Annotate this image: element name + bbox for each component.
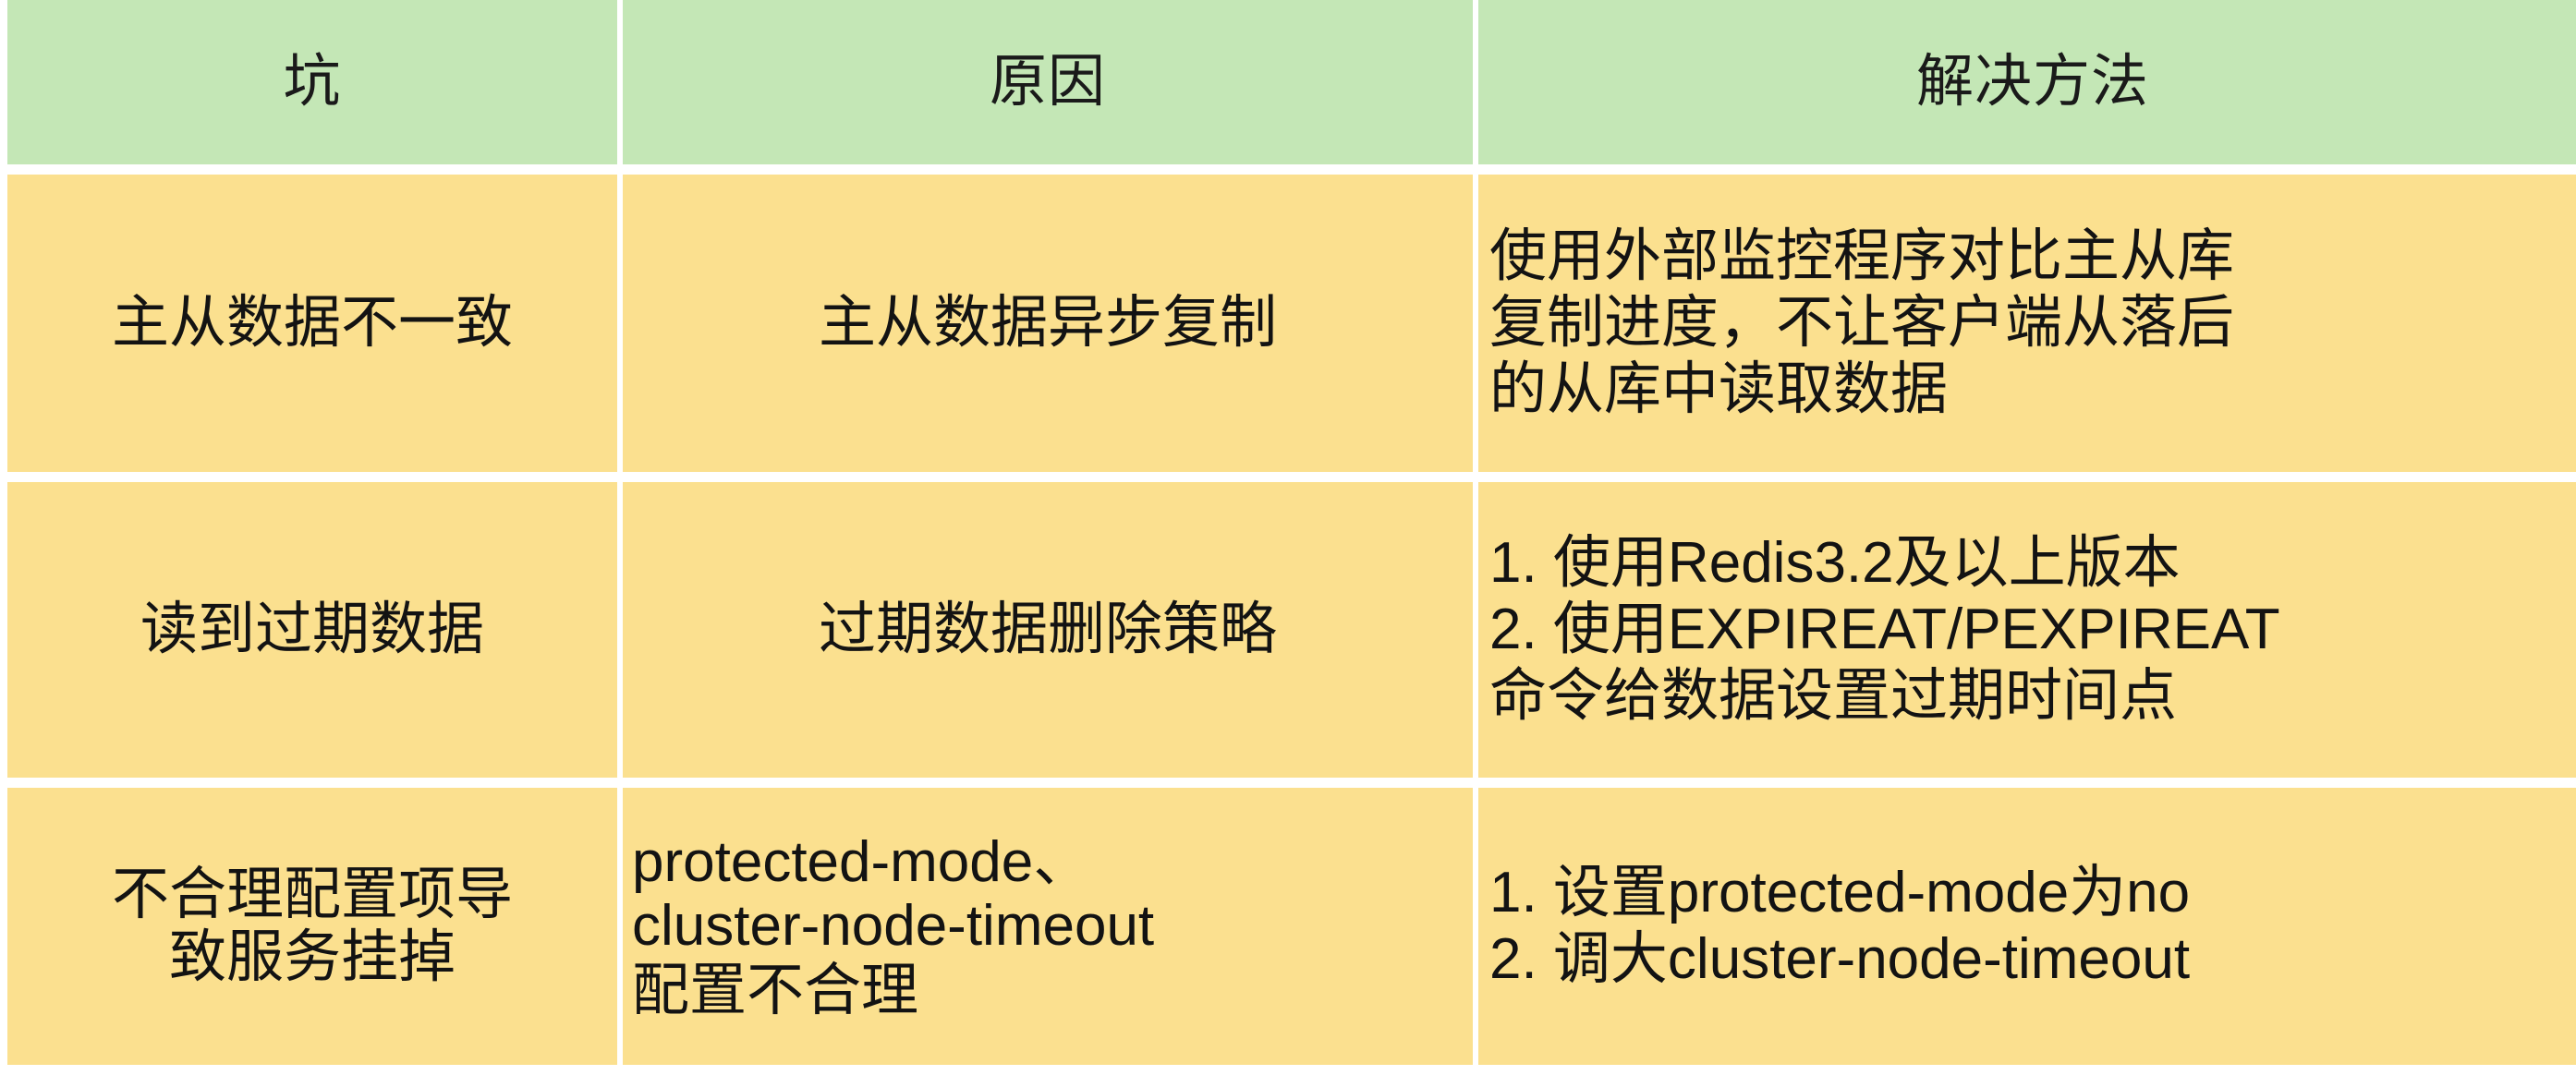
header-row: 坑 原因 解决方法 xyxy=(7,0,2576,164)
pitfall-text: 不合理配置项导 致服务挂掉 xyxy=(13,864,612,989)
cause-line: 配置不合理 xyxy=(632,959,1465,1022)
table-body: 主从数据不一致 主从数据异步复制 使用外部监控程序对比主从库 复制进度，不让客户… xyxy=(7,175,2576,1065)
pitfall-table-container: 坑 原因 解决方法 主从数据不一致 主从数据异步复制 使用外部监控程序对比主从库… xyxy=(0,0,2576,1067)
cause-line: protected-mode、 xyxy=(632,830,1465,894)
cell-cause: protected-mode、 cluster-node-timeout 配置不… xyxy=(623,788,1473,1065)
column-header-cause: 原因 xyxy=(623,0,1473,164)
cell-cause: 过期数据删除策略 xyxy=(623,482,1473,778)
solution-line: 命令给数据设置过期时间点 xyxy=(1489,663,2576,730)
solution-line: 2. 调大cluster-node-timeout xyxy=(1489,926,2576,993)
cell-solution: 1. 设置protected-mode为no 2. 调大cluster-node… xyxy=(1478,788,2576,1065)
table-header: 坑 原因 解决方法 xyxy=(7,0,2576,164)
table-row: 读到过期数据 过期数据删除策略 1. 使用Redis3.2及以上版本 2. 使用… xyxy=(7,482,2576,778)
cell-solution: 使用外部监控程序对比主从库 复制进度，不让客户端从落后 的从库中读取数据 xyxy=(1478,175,2576,472)
table-row: 主从数据不一致 主从数据异步复制 使用外部监控程序对比主从库 复制进度，不让客户… xyxy=(7,175,2576,472)
cell-solution: 1. 使用Redis3.2及以上版本 2. 使用EXPIREAT/PEXPIRE… xyxy=(1478,482,2576,778)
cell-pitfall: 不合理配置项导 致服务挂掉 xyxy=(7,788,617,1065)
cell-pitfall: 读到过期数据 xyxy=(7,482,617,778)
cell-cause: 主从数据异步复制 xyxy=(623,175,1473,472)
solution-line: 1. 设置protected-mode为no xyxy=(1489,860,2576,926)
table-row: 不合理配置项导 致服务挂掉 protected-mode、 cluster-no… xyxy=(7,788,2576,1065)
solution-line: 2. 使用EXPIREAT/PEXPIREAT xyxy=(1489,597,2576,663)
column-header-pitfall: 坑 xyxy=(7,0,617,164)
cell-pitfall: 主从数据不一致 xyxy=(7,175,617,472)
solution-line: 使用外部监控程序对比主从库 xyxy=(1489,223,2576,290)
cause-line: cluster-node-timeout xyxy=(632,894,1465,958)
pitfall-line: 致服务挂掉 xyxy=(13,926,612,989)
solution-line: 1. 使用Redis3.2及以上版本 xyxy=(1489,530,2576,597)
column-header-solution: 解决方法 xyxy=(1478,0,2576,164)
solution-line: 的从库中读取数据 xyxy=(1489,356,2576,423)
pitfall-table: 坑 原因 解决方法 主从数据不一致 主从数据异步复制 使用外部监控程序对比主从库… xyxy=(2,0,2576,1075)
solution-line: 复制进度，不让客户端从落后 xyxy=(1489,290,2576,356)
pitfall-line: 不合理配置项导 xyxy=(13,864,612,926)
